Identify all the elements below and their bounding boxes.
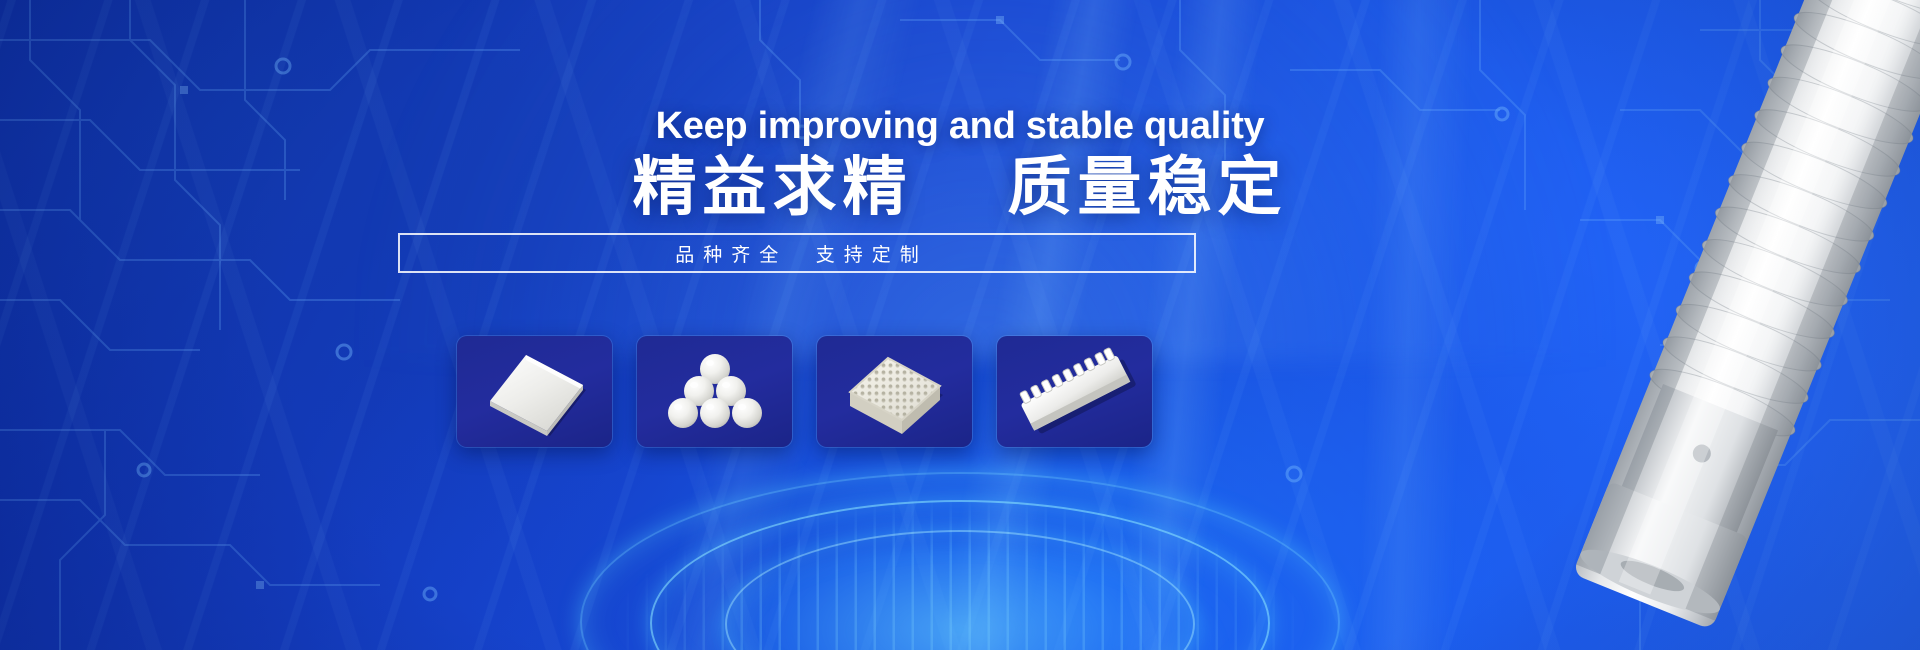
- product-card-ridged-ceramic-strip[interactable]: [997, 336, 1152, 447]
- headline-chinese: 精益求精 质量稳定: [0, 150, 1920, 224]
- product-card-honeycomb-ceramic[interactable]: [817, 336, 972, 447]
- product-card-ceramic-tile-plate[interactable]: [457, 336, 612, 447]
- ridged-ceramic-strip-icon: [1000, 338, 1150, 446]
- product-card-ceramic-balls[interactable]: [637, 336, 792, 447]
- honeycomb-ceramic-icon: [820, 338, 970, 446]
- banner-content: Keep improving and stable quality 精益求精 质…: [0, 0, 1920, 650]
- product-card-list: [457, 336, 1152, 447]
- headline-english: Keep improving and stable quality: [0, 104, 1920, 148]
- promo-banner: Keep improving and stable quality 精益求精 质…: [0, 0, 1920, 650]
- ceramic-tile-plate-icon: [460, 338, 610, 446]
- ceramic-balls-icon: [640, 338, 790, 446]
- headline-english-text: Keep improving and stable quality: [656, 105, 1265, 147]
- tagline-text: 品种齐全 支持定制: [666, 240, 928, 267]
- tagline-box: 品种齐全 支持定制: [398, 233, 1196, 273]
